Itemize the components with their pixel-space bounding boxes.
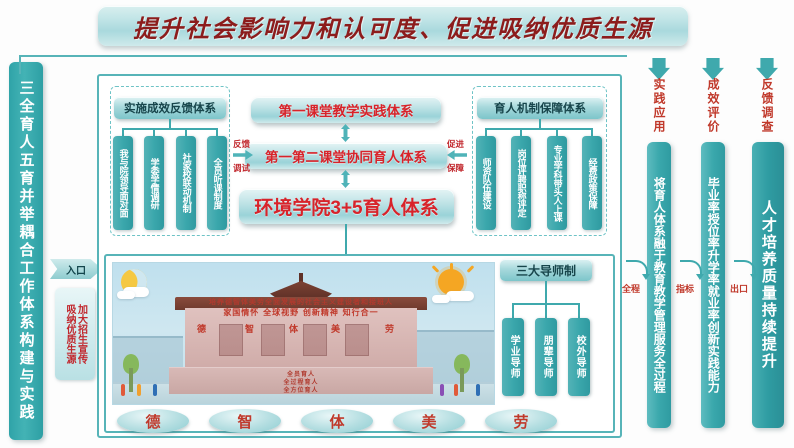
- mentor-item-0-label: 学业导师: [508, 335, 518, 379]
- building-window-3: [303, 324, 327, 356]
- wufu-ti: 体: [301, 409, 373, 433]
- feedback-item-1: 学委学情调研: [144, 136, 164, 230]
- pillar-char-1: 智: [245, 322, 254, 335]
- cloud-right-icon: [446, 291, 474, 301]
- mentor-item-1-label: 朋辈导师: [541, 335, 551, 379]
- right-col-1-arrow-label: 成效评价: [704, 78, 722, 134]
- right-col-1-hook-label: 指标: [676, 282, 694, 295]
- right-col-2-body: 人才培养质量持续提升: [752, 142, 784, 428]
- entry-callout-line2: 吸纳优质生源: [64, 304, 76, 364]
- building-window-4: [345, 324, 369, 356]
- sun-ray-2: [467, 265, 475, 273]
- wufu-zhi: 智: [209, 409, 281, 433]
- center-box-main-system: 环境学院3+5育人体系: [239, 189, 454, 224]
- mentor-drop-1: [512, 303, 514, 318]
- building-window-1: [219, 324, 243, 356]
- pillar-char-4: 劳: [385, 322, 394, 335]
- entry-arrow: 入口: [50, 259, 102, 279]
- guarantee-item-2-label: 专业学科带头人上课: [552, 145, 561, 222]
- feedback-branch-stem: [169, 119, 171, 129]
- feedback-drop-1: [122, 128, 124, 136]
- guarantee-block-header: 育人机制保障体系: [477, 97, 603, 119]
- pillar-char-0: 德: [197, 322, 206, 335]
- feedback-drop-4: [216, 128, 218, 136]
- guarantee-item-0: 师资队伍建设: [476, 136, 496, 230]
- guarantee-item-3-label: 经费政策保障: [587, 158, 596, 209]
- person-6: [476, 384, 480, 396]
- top-connector-horizontal: [19, 55, 627, 57]
- wufu-lao: 劳: [485, 409, 557, 433]
- right-col-1-hook-icon: [680, 260, 702, 276]
- mentor-item-0: 学业导师: [502, 318, 524, 396]
- mentor-drop-3: [578, 303, 580, 318]
- top-connector-vertical: [19, 55, 21, 74]
- base-line-2: 全方位育人: [169, 385, 433, 394]
- right-col-0-body: 将育人体系融于教育教学管理服务全过程: [647, 142, 671, 428]
- building-window-2: [261, 324, 285, 356]
- pillar-char-3: 美: [331, 322, 340, 335]
- left-sidebar: 三全育人五育并举耦合工作体系构建与实践: [9, 62, 43, 440]
- main-building: 培养德智体美劳全面发展的社会主义建设者和接班人 家国情怀 全球视野 创新精神 知…: [175, 282, 427, 394]
- mentor-block-header: 三大导师制: [500, 259, 592, 281]
- tree-left-trunk: [129, 368, 133, 392]
- infographic-root: 提升社会影响力和认可度、促进吸纳优质生源 三全育人五育并举耦合工作体系构建与实践…: [0, 0, 794, 448]
- building-body: 培养德智体美劳全面发展的社会主义建设者和接班人 家国情怀 全球视野 创新精神 知…: [185, 308, 417, 370]
- mentor-item-2-label: 校外导师: [574, 335, 584, 379]
- guarantee-item-1-label: 岗位评聘职称评定: [516, 149, 525, 217]
- guarantee-drop-3: [556, 128, 558, 136]
- guarantee-branch-stem: [539, 119, 541, 129]
- feedback-block-header: 实施成效反馈体系: [114, 97, 226, 119]
- pillar-char-2: 体: [289, 322, 298, 335]
- person-1: [121, 384, 125, 396]
- mentor-item-2: 校外导师: [568, 318, 590, 396]
- guarantee-arrow-label-bottom: 保障: [447, 162, 464, 174]
- right-col-0-hook-icon: [626, 260, 648, 276]
- center-box-first-classroom: 第一课堂教学实践体系: [251, 97, 441, 123]
- feedback-item-0-label: 我与院领导面对面: [118, 149, 127, 217]
- guarantee-drop-1: [485, 128, 487, 136]
- feedback-item-0: 我与院领导面对面: [113, 136, 133, 230]
- entry-callout-line1: 加大招生宣传: [75, 304, 87, 364]
- person-3: [153, 384, 157, 396]
- mentor-item-1: 朋辈导师: [535, 318, 557, 396]
- guarantee-arrow-label-top: 促进: [447, 138, 464, 150]
- person-4: [440, 384, 444, 396]
- guarantee-item-0-label: 师资队伍建设: [481, 158, 490, 209]
- wufu-mei: 美: [393, 409, 465, 433]
- feedback-item-2: 社家校联动机制: [176, 136, 196, 230]
- entry-arrow-label: 入口: [66, 262, 86, 277]
- guarantee-item-3: 经费政策保障: [582, 136, 602, 230]
- feedback-drop-3: [185, 128, 187, 136]
- guarantee-item-2: 专业学科带头人上课: [547, 136, 567, 230]
- right-col-1-body: 毕业率授位率升学率就业率创新实践能力: [701, 142, 725, 428]
- right-col-2-hook-label: 出口: [730, 282, 748, 295]
- right-col-0-body-label: 将育人体系融于教育教学管理服务全过程: [653, 177, 666, 393]
- right-col-0-hook-label: 全程: [622, 282, 640, 295]
- right-col-0-arrow-label: 实践应用: [650, 78, 668, 134]
- feedback-arrow-label-top: 反馈: [233, 138, 250, 150]
- feedback-drop-2: [153, 128, 155, 136]
- building-top-motto: 培养德智体美劳全面发展的社会主义建设者和接班人: [185, 297, 417, 307]
- wufu-de: 德: [117, 409, 189, 433]
- right-col-1-body-label: 毕业率授位率升学率就业率创新实践能力: [707, 177, 720, 393]
- guarantee-drop-2: [520, 128, 522, 136]
- sun-ray-1: [450, 263, 453, 271]
- feedback-item-2-label: 社家校联动机制: [181, 153, 190, 213]
- campus-illustration: 培养德智体美劳全面发展的社会主义建设者和接班人 家国情怀 全球视野 创新精神 知…: [112, 262, 495, 405]
- left-sidebar-title: 三全育人五育并举耦合工作体系构建与实践: [19, 80, 34, 422]
- mentor-drop-2: [545, 303, 547, 318]
- center-box-collaborative: 第一第二课堂协同育人体系: [245, 143, 447, 169]
- entry-callout: 加大招生宣传 吸纳优质生源: [55, 288, 95, 380]
- cloud-right2-icon: [432, 295, 450, 303]
- person-5: [454, 384, 458, 396]
- cloud-left2-icon: [117, 291, 135, 299]
- guarantee-item-1: 岗位评聘职称评定: [511, 136, 531, 230]
- feedback-arrow-label-bottom: 调试: [233, 162, 250, 174]
- feedback-item-3: 全员听课制度: [207, 136, 227, 230]
- person-2: [137, 384, 141, 396]
- right-col-2-body-label: 人才培养质量持续提升: [760, 200, 776, 370]
- building-sub-motto: 家国情怀 全球视野 创新精神 知行合一: [185, 307, 417, 318]
- building-spire: [299, 273, 303, 282]
- right-col-0-arrow-icon: [648, 58, 670, 80]
- title-banner: 提升社会影响力和认可度、促进吸纳优质生源: [98, 6, 688, 46]
- right-col-2-arrow-icon: [756, 58, 778, 80]
- guarantee-drop-4: [591, 128, 593, 136]
- mentor-stem: [545, 281, 547, 303]
- tree-right-trunk: [460, 368, 464, 392]
- bottom-panel-stem: [345, 224, 347, 254]
- right-col-1-arrow-icon: [702, 58, 724, 80]
- right-col-2-arrow-label: 反馈调查: [758, 78, 776, 134]
- building-base: 全员育人 全过程育人 全方位育人: [169, 367, 433, 394]
- feedback-item-1-label: 学委学情调研: [149, 158, 158, 209]
- feedback-item-3-label: 全员听课制度: [212, 158, 221, 209]
- banner-title: 提升社会影响力和认可度、促进吸纳优质生源: [133, 9, 653, 44]
- sun-ray-3: [432, 265, 440, 273]
